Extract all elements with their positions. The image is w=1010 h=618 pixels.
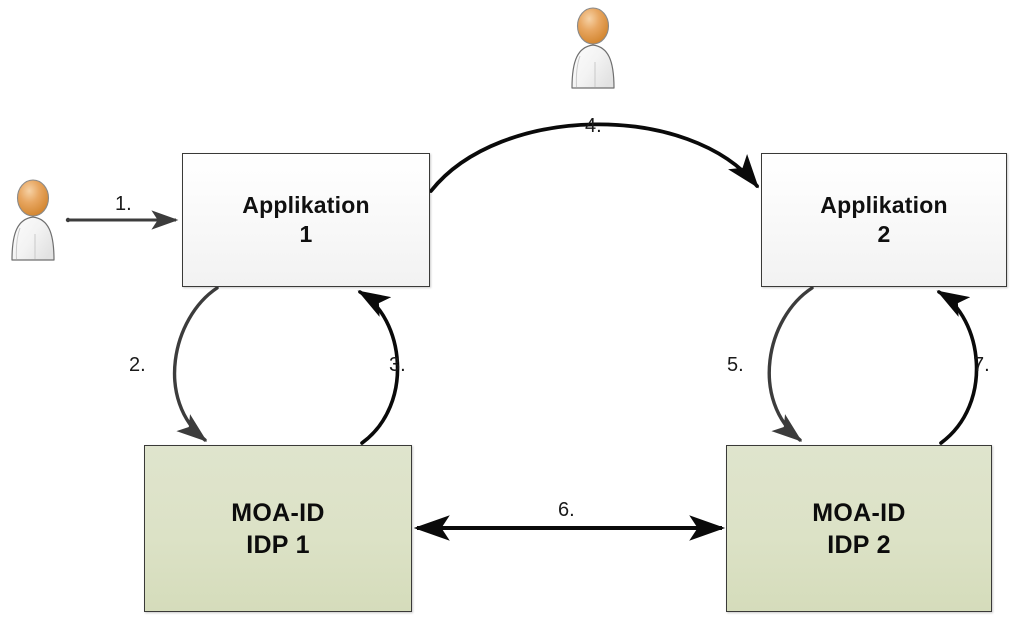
application-1-subtitle: 1 <box>300 220 313 249</box>
moa-id-idp-2-title: MOA-ID <box>812 497 905 529</box>
edge-6-label: 6. <box>558 500 575 520</box>
moa-id-idp-1-subtitle: IDP 1 <box>246 529 310 561</box>
application-2-node[interactable]: Applikation 2 <box>761 153 1007 287</box>
person-icon <box>564 4 624 90</box>
edge-2-arrow <box>175 288 217 440</box>
edge-7-label: 7. <box>973 355 990 375</box>
edge-1-label: 1. <box>115 194 132 214</box>
diagram-canvas: Applikation 1 Applikation 2 MOA-ID IDP 1… <box>0 0 1010 618</box>
application-1-node[interactable]: Applikation 1 <box>182 153 430 287</box>
application-1-title: Applikation <box>242 191 369 220</box>
moa-id-idp-2-subtitle: IDP 2 <box>827 529 891 561</box>
edge-4-label: 4. <box>585 116 602 136</box>
moa-id-idp-2-node[interactable]: MOA-ID IDP 2 <box>726 445 992 612</box>
moa-id-idp-1-node[interactable]: MOA-ID IDP 1 <box>144 445 412 612</box>
edge-1-arrow <box>66 218 176 222</box>
application-2-title: Applikation <box>820 191 947 220</box>
application-2-subtitle: 2 <box>878 220 891 249</box>
moa-id-idp-1-title: MOA-ID <box>231 497 324 529</box>
user-actor-left <box>4 176 64 262</box>
user-actor-top <box>564 4 624 90</box>
person-icon <box>4 176 64 262</box>
edge-3-label: 3. <box>389 355 406 375</box>
edge-2-label: 2. <box>129 355 146 375</box>
edge-5-arrow <box>769 288 812 440</box>
edge-5-label: 5. <box>727 355 744 375</box>
edge-7-arrow <box>939 292 977 443</box>
